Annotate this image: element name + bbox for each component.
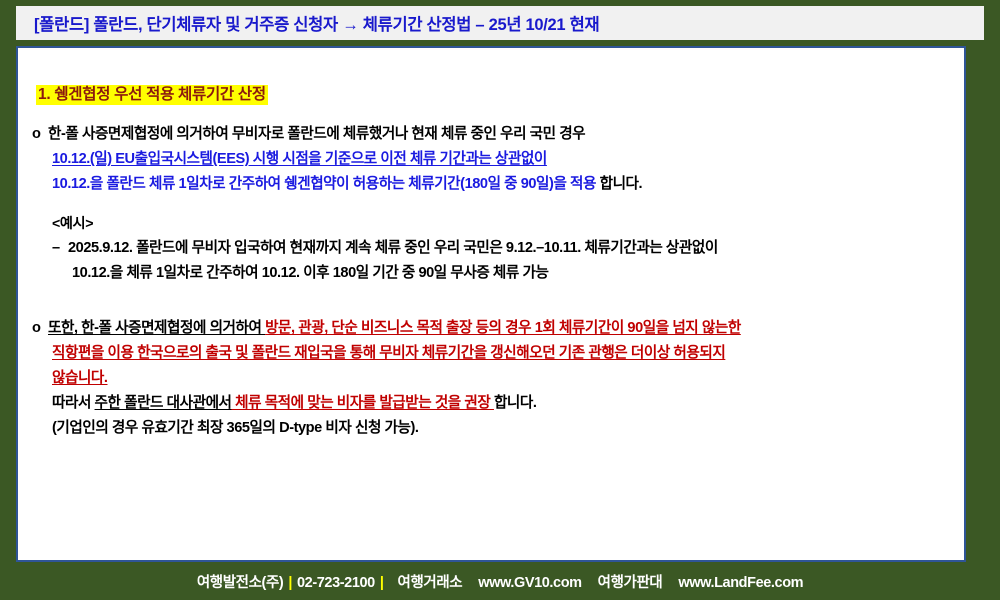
bullet1-line-3: 10.12.을 폴란드 체류 1일차로 간주하여 쉥겐협약이 허용하는 체류기간… — [32, 172, 956, 197]
example-line-1: –2025.9.12. 폴란드에 무비자 입국하여 현재까지 계속 체류 중인 … — [32, 236, 956, 261]
footer-separator-1: | — [283, 575, 297, 591]
footer-phone[interactable]: 02-723-2100 — [297, 575, 375, 591]
footer-brand-2: 여행가판대 — [598, 575, 663, 591]
slide-root: [폴란드] 폴란드, 단기체류자 및 거주증 신청자 → 체류기간 산정법 – … — [0, 0, 1000, 600]
example-label: <예시> — [32, 212, 956, 236]
section-heading-label: 1. 쉥겐협정 우선 적용 체류기간 산정 — [36, 85, 268, 105]
bullet1-line3-tail: 합니다. — [596, 176, 642, 192]
bullet1-line1-text: 한-폴 사증면제협정에 의거하여 무비자로 폴란드에 체류했거나 현재 체류 중… — [48, 126, 585, 142]
bullet1-line-1: o한-폴 사증면제협정에 의거하여 무비자로 폴란드에 체류했거나 현재 체류 … — [32, 122, 956, 147]
example-line-2: 10.12.을 체류 1일차로 간주하여 10.12. 이후 180일 기간 중… — [32, 261, 956, 286]
bullet-block-2: o또한, 한-폴 사증면제협정에 의거하여 방문, 관광, 단순 비즈니스 목적… — [32, 316, 956, 441]
bullet2-line4-tail: 합니다. — [494, 395, 537, 411]
bullet2-line-3: 않습니다. — [32, 366, 956, 391]
bullet2-line3-red: 않습니다. — [52, 370, 108, 386]
bullet1-line3-text: 10.12.을 폴란드 체류 1일차로 간주하여 쉥겐협약이 허용하는 체류기간… — [52, 176, 596, 192]
bullet2-line1-black: 또한, 한-폴 사증면제협정에 의거하여 — [48, 320, 265, 336]
bullet-block-1: o한-폴 사증면제협정에 의거하여 무비자로 폴란드에 체류했거나 현재 체류 … — [32, 122, 956, 197]
bullet2-line4-prefix: 따라서 — [52, 395, 95, 411]
page-title: [폴란드] 폴란드, 단기체류자 및 거주증 신청자 → 체류기간 산정법 – … — [34, 11, 599, 35]
bullet-marker-1: o — [32, 122, 48, 147]
bullet2-line5-text: (기업인의 경우 유효기간 최장 365일의 D-type 비자 신청 가능). — [52, 420, 419, 436]
example-line1-text: 2025.9.12. 폴란드에 무비자 입국하여 현재까지 계속 체류 중인 우… — [68, 240, 718, 256]
bullet-marker-2: o — [32, 316, 48, 341]
bullet2-line1-red: 방문, 관광, 단순 비즈니스 목적 출장 등의 경우 1회 체류기간이 90일… — [265, 320, 741, 336]
example-block: <예시> –2025.9.12. 폴란드에 무비자 입국하여 현재까지 계속 체… — [32, 212, 956, 286]
footer-text: 여행발전소(주)|02-723-2100|여행거래소www.GV10.com여행… — [197, 571, 803, 592]
bullet2-line4-black-underline: 주한 폴란드 대사관에서 — [95, 395, 232, 411]
footer-separator-2: | — [375, 575, 389, 591]
bullet2-line4-red: 체류 목적에 맞는 비자를 발급받는 것을 권장 — [232, 395, 494, 411]
title-bar: [폴란드] 폴란드, 단기체류자 및 거주증 신청자 → 체류기간 산정법 – … — [16, 6, 984, 40]
bullet2-line-4: 따라서 주한 폴란드 대사관에서 체류 목적에 맞는 비자를 발급받는 것을 권… — [32, 391, 956, 416]
footer-site-2[interactable]: www.LandFee.com — [678, 575, 803, 591]
bullet1-line-2: 10.12.(일) EU출입국시스템(EES) 시행 시점을 기준으로 이전 체… — [32, 147, 956, 172]
footer-company: 여행발전소(주) — [197, 575, 284, 591]
footer-brand-1: 여행거래소 — [398, 575, 463, 591]
example-dash-marker: – — [52, 236, 68, 261]
content-body: 1. 쉥겐협정 우선 적용 체류기간 산정 o한-폴 사증면제협정에 의거하여 … — [18, 48, 964, 560]
example-line2-text: 10.12.을 체류 1일차로 간주하여 10.12. 이후 180일 기간 중… — [72, 265, 548, 281]
bullet1-line2-text: 10.12.(일) EU출입국시스템(EES) 시행 시점을 기준으로 이전 체… — [52, 151, 547, 167]
bullet2-line-1: o또한, 한-폴 사증면제협정에 의거하여 방문, 관광, 단순 비즈니스 목적… — [32, 316, 956, 341]
bullet2-line2-red: 직항편을 이용 한국으로의 출국 및 폴란드 재입국을 통해 무비자 체류기간을… — [52, 345, 725, 361]
section-heading: 1. 쉥겐협정 우선 적용 체류기간 산정 — [36, 82, 268, 104]
footer-site-1[interactable]: www.GV10.com — [478, 575, 581, 591]
bullet2-line-5: (기업인의 경우 유효기간 최장 365일의 D-type 비자 신청 가능). — [32, 416, 956, 441]
footer-bar: 여행발전소(주)|02-723-2100|여행거래소www.GV10.com여행… — [0, 562, 1000, 600]
content-frame: 1. 쉥겐협정 우선 적용 체류기간 산정 o한-폴 사증면제협정에 의거하여 … — [16, 46, 966, 562]
bullet2-line-2: 직항편을 이용 한국으로의 출국 및 폴란드 재입국을 통해 무비자 체류기간을… — [32, 341, 956, 366]
